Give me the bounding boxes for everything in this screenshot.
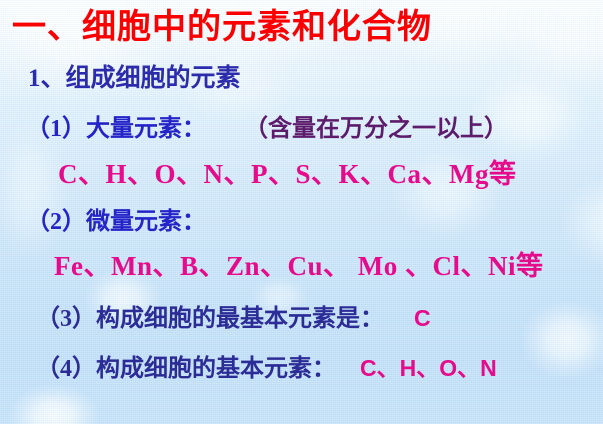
item-basic-elements-row: （4）构成细胞的基本元素： C、H、O、N	[36, 357, 497, 381]
item-most-basic-element-row: （3）构成细胞的最基本元素是： C	[36, 307, 431, 331]
item-1-elements: C、H、O、N、P、S、K、Ca、Mg等	[58, 161, 517, 188]
item-4-label: （4）构成细胞的基本元素：	[36, 356, 336, 382]
slide-canvas: 一、细胞中的元素和化合物 1、组成细胞的元素 （1）大量元素： （含量在万分之一…	[0, 0, 603, 424]
item-1-label: （1）大量元素：	[26, 116, 206, 142]
item-3-label: （3）构成细胞的最基本元素是：	[36, 306, 384, 332]
item-major-elements-label-row: （1）大量元素： （含量在万分之一以上）	[26, 117, 508, 141]
item-trace-elements-label-row: （2）微量元素：	[26, 210, 206, 234]
slide-subheading: 1、组成细胞的元素	[28, 66, 241, 91]
item-4-answer: C、H、O、N	[360, 355, 497, 381]
slide-title: 一、细胞中的元素和化合物	[12, 11, 432, 45]
item-2-label: （2）微量元素：	[26, 209, 206, 235]
slide-content: 一、细胞中的元素和化合物 1、组成细胞的元素 （1）大量元素： （含量在万分之一…	[0, 0, 603, 424]
item-1-note: （含量在万分之一以上）	[244, 116, 508, 142]
item-3-answer: C	[414, 305, 431, 331]
item-2-elements: Fe、Mn、B、Zn、Cu、 Mo 、Cl、Ni等	[54, 253, 544, 280]
